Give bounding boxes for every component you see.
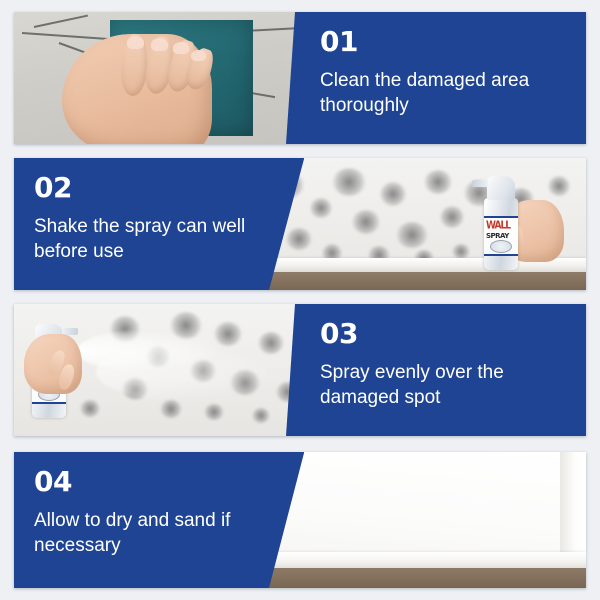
label-graphic: [490, 240, 512, 253]
step-description-03: Spray evenly over the damaged spot: [320, 360, 570, 411]
mould-spot: [332, 168, 366, 196]
mould-spot: [214, 322, 242, 346]
step-number-04: 04: [34, 468, 292, 496]
fingernail: [191, 50, 206, 61]
fingernail: [151, 38, 168, 51]
wooden-floor: [256, 568, 586, 588]
step-description-01: Clean the damaged area thoroughly: [320, 68, 570, 119]
step-text-panel-02: 02 Shake the spray can well before use: [14, 158, 304, 290]
step-card-01: 01 Clean the damaged area thoroughly: [14, 12, 586, 144]
hand: [24, 334, 82, 394]
mould-spot: [310, 198, 332, 218]
bottle-cap: [487, 176, 515, 200]
mouldy-wall-with-bottle-photo: WALL SPRAY: [256, 158, 586, 290]
mould-spot: [80, 400, 100, 417]
wooden-floor: [256, 272, 586, 290]
step-text-panel-01: 01 Clean the damaged area thoroughly: [286, 12, 586, 144]
clean-white-wall-photo: [256, 452, 586, 588]
spray-nozzle: [472, 180, 488, 187]
mould-spot: [380, 182, 406, 206]
bottle-brand-text: WALL: [486, 220, 510, 232]
step-description-02: Shake the spray can well before use: [34, 214, 284, 265]
mould-spot: [352, 210, 380, 234]
wall-crack: [22, 32, 112, 40]
mould-spot: [548, 176, 570, 196]
bottle-label: WALL SPRAY: [484, 216, 518, 256]
mould-spot: [252, 408, 270, 423]
instruction-steps-board: 01 Clean the damaged area thoroughly: [0, 0, 600, 600]
spray-mist: [96, 344, 266, 400]
step-description-04: Allow to dry and sand if necessary: [34, 508, 284, 559]
step-text-panel-03: 03 Spray evenly over the damaged spot: [286, 304, 586, 436]
step-card-02: WALL SPRAY 02 Shake the spray can well b…: [14, 158, 586, 290]
mould-spot: [440, 206, 464, 228]
step-number-02: 02: [34, 174, 292, 202]
spraying-mouldy-wall-photo: WALL SPRAY: [14, 304, 334, 436]
step-card-04: 04 Allow to dry and sand if necessary: [14, 452, 586, 588]
mould-spot: [396, 222, 428, 248]
step-text-panel-04: 04 Allow to dry and sand if necessary: [14, 452, 304, 588]
bottle-subtitle-text: SPRAY: [486, 232, 509, 240]
wall-crack: [34, 15, 88, 28]
step-number-03: 03: [320, 320, 574, 348]
mould-spot: [160, 400, 182, 418]
fingernail: [173, 42, 189, 54]
spray-bottle: WALL SPRAY: [484, 198, 518, 270]
mould-spot: [258, 332, 284, 354]
sanding-cracked-wall-photo: [14, 12, 334, 144]
skirting-board: [256, 552, 586, 568]
mould-spot: [204, 404, 224, 420]
mould-spot: [424, 170, 452, 194]
step-card-03: WALL SPRAY 03 Spray evenly over the dama…: [14, 304, 586, 436]
step-number-01: 01: [320, 28, 574, 56]
mould-spot: [286, 228, 312, 250]
mould-spot: [452, 244, 470, 259]
fingernail: [127, 36, 144, 49]
